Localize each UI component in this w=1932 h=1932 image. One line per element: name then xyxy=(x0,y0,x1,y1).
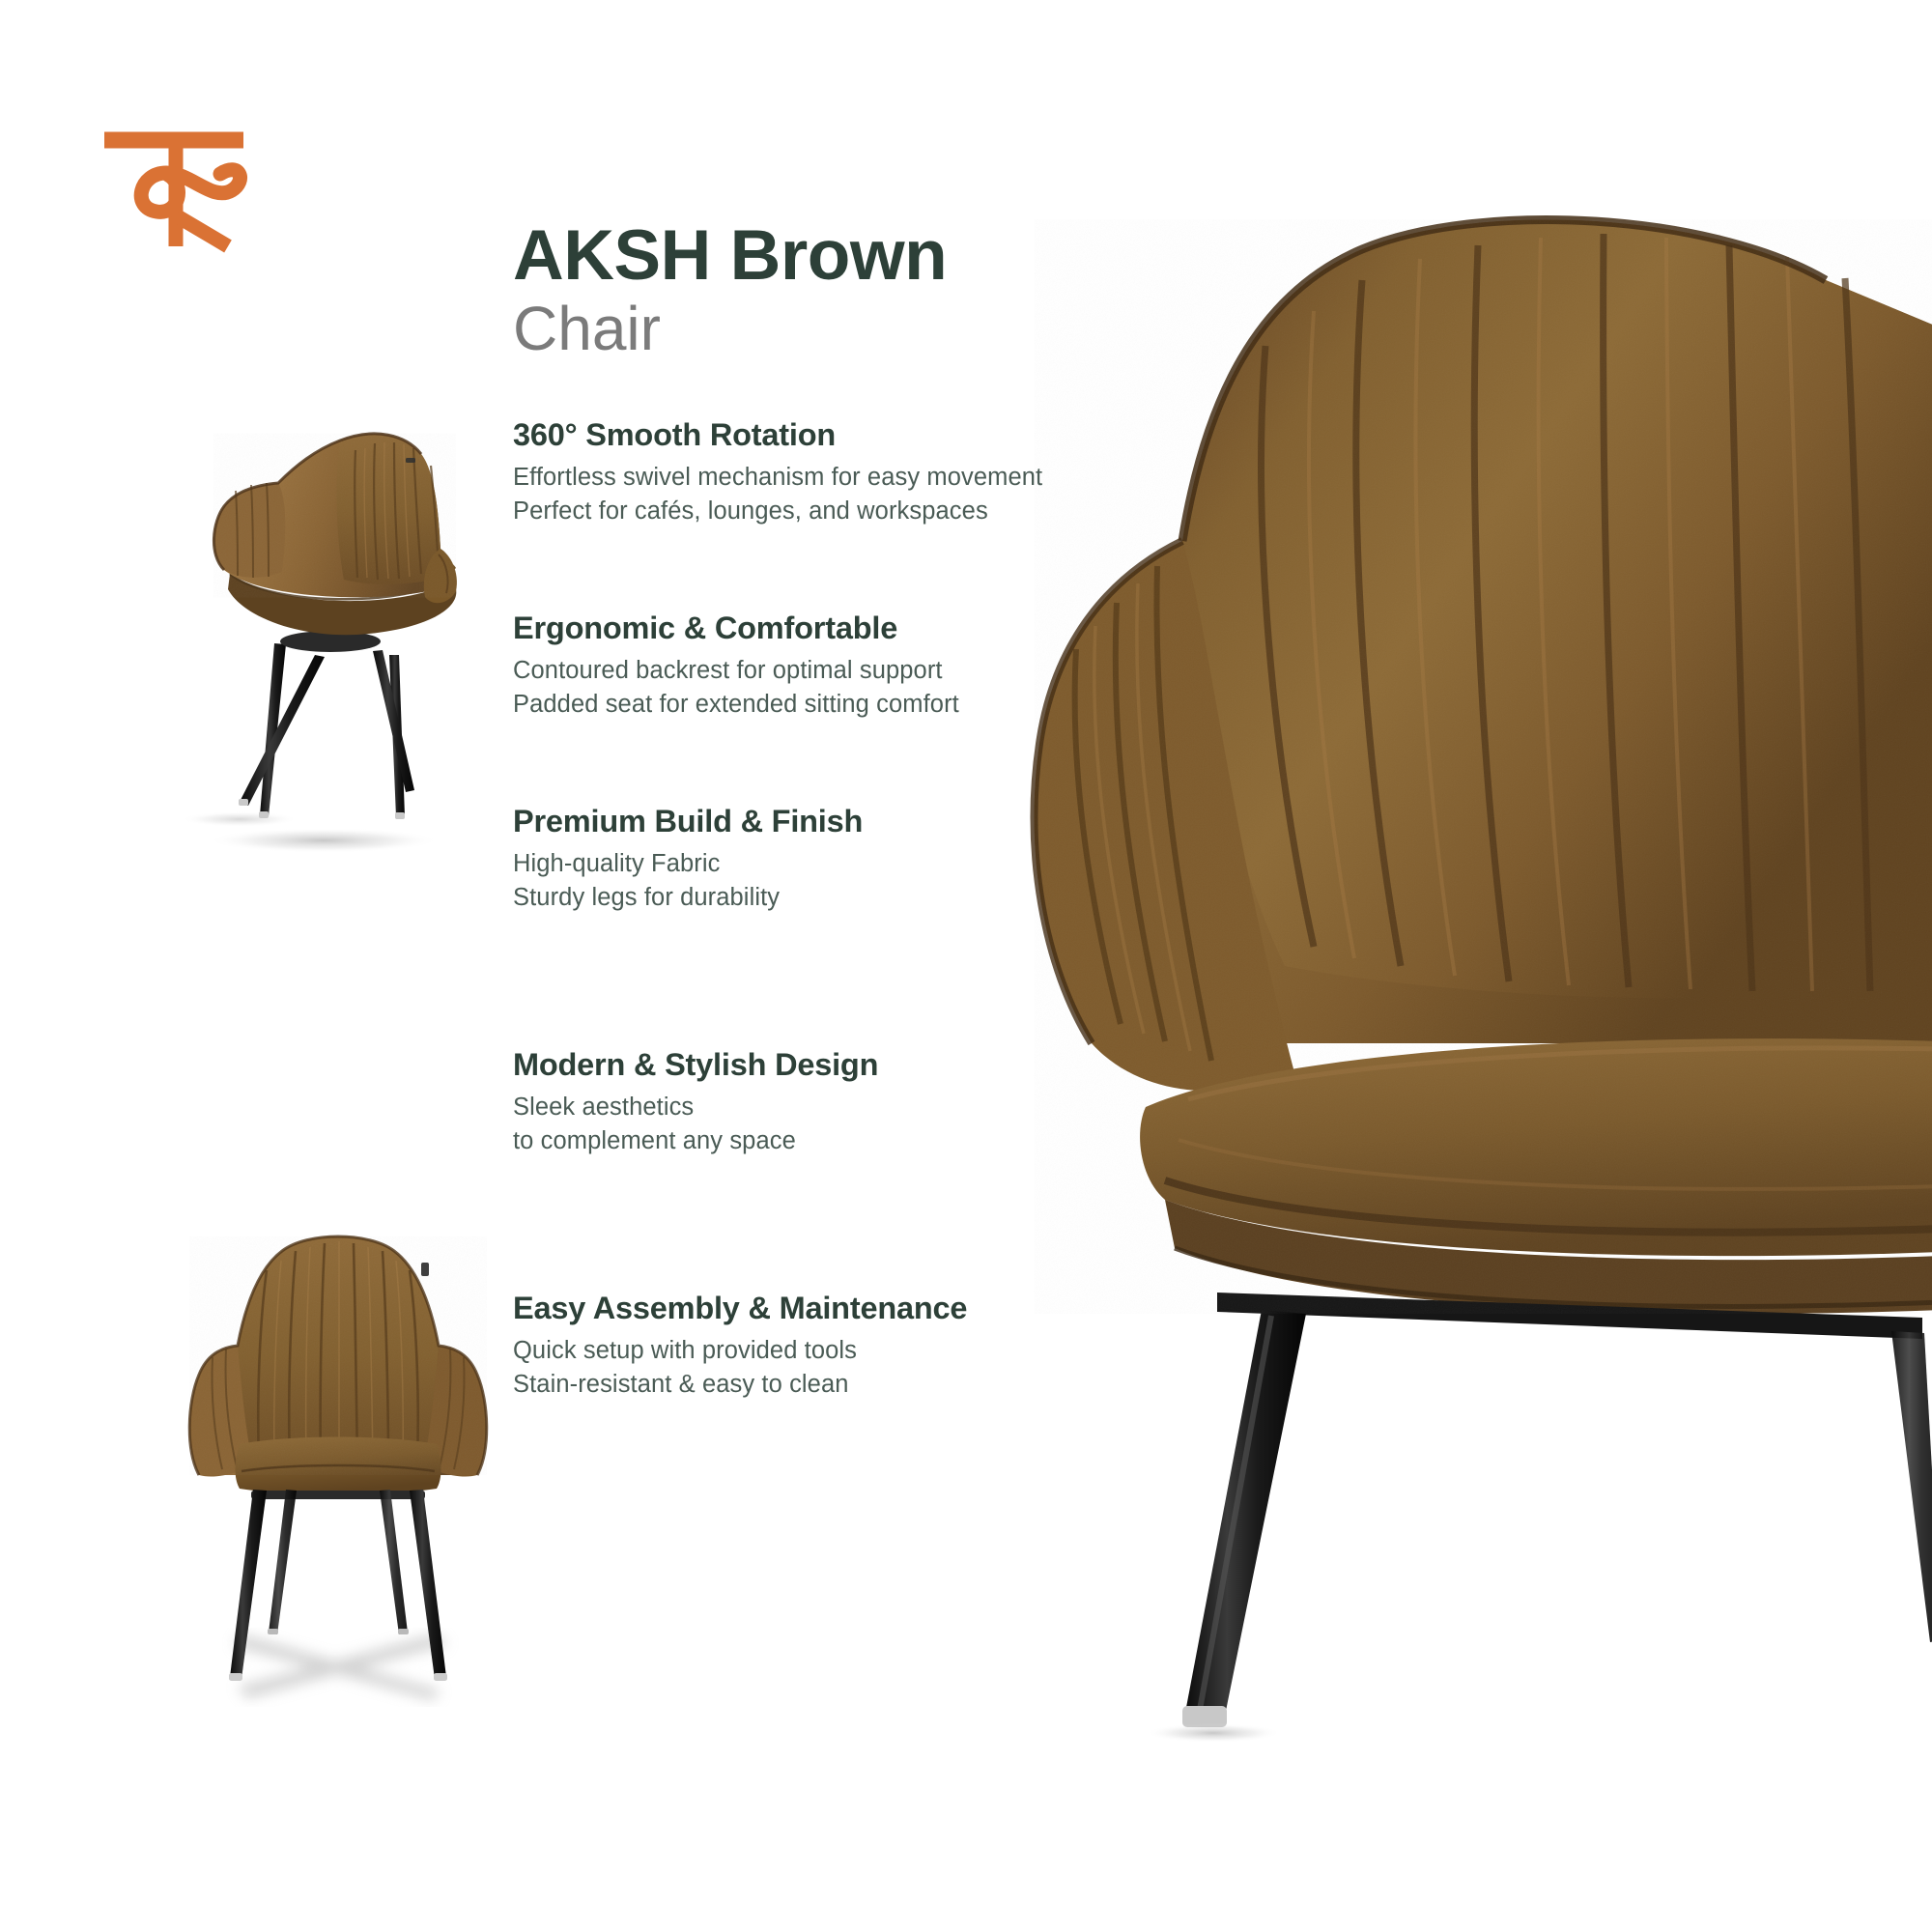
feature-line: Perfect for cafés, lounges, and workspac… xyxy=(513,495,1054,527)
feature-item: Ergonomic & Comfortable Contoured backre… xyxy=(513,611,1054,721)
brand-logo xyxy=(97,101,261,246)
tk-monogram-icon xyxy=(97,101,261,246)
feature-item: Easy Assembly & Maintenance Quick setup … xyxy=(513,1291,1054,1401)
chair-front-legs xyxy=(145,1488,531,1748)
feature-item: Modern & Stylish Design Sleek aesthetics… xyxy=(513,1047,1054,1157)
chair-legs xyxy=(239,643,414,819)
feature-item: Premium Build & Finish High-quality Fabr… xyxy=(513,804,1054,914)
feature-heading: Premium Build & Finish xyxy=(513,804,1054,838)
chair-front-image xyxy=(145,1212,531,1502)
infographic-canvas: AKSH Brown Chair 360° Smooth Rotation Ef… xyxy=(0,0,1932,1932)
chair-legs xyxy=(1182,1310,1932,1727)
feature-item: 360° Smooth Rotation Effortless swivel m… xyxy=(513,417,1054,527)
feature-line: Sleek aesthetics xyxy=(513,1091,1054,1123)
feature-heading: Ergonomic & Comfortable xyxy=(513,611,1054,645)
feature-line: Effortless swivel mechanism for easy mov… xyxy=(513,461,1054,494)
feature-line: Sturdy legs for durability xyxy=(513,881,1054,914)
feature-line: Quick setup with provided tools xyxy=(513,1334,1054,1367)
feature-heading: 360° Smooth Rotation xyxy=(513,417,1054,452)
chair-hero-image xyxy=(976,174,1932,1835)
feature-line: Contoured backrest for optimal support xyxy=(513,654,1054,687)
feature-heading: Easy Assembly & Maintenance xyxy=(513,1291,1054,1325)
feature-line: to complement any space xyxy=(513,1124,1054,1157)
feature-heading: Modern & Stylish Design xyxy=(513,1047,1054,1082)
chair-three-quarter-image xyxy=(116,365,522,867)
feature-line: Padded seat for extended sitting comfort xyxy=(513,688,1054,721)
feature-line: High-quality Fabric xyxy=(513,847,1054,880)
feature-line: Stain-resistant & easy to clean xyxy=(513,1368,1054,1401)
